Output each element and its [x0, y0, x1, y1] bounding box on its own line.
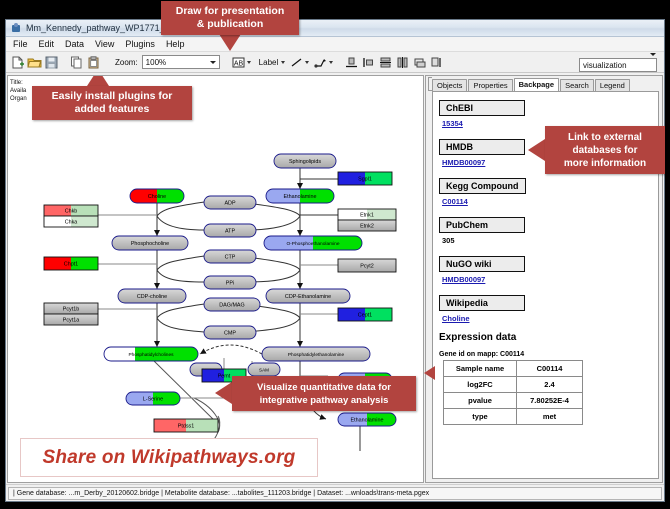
callout-draw-line2: & publication	[197, 18, 264, 30]
text-box-icon[interactable]: AB	[231, 55, 246, 70]
line-tool[interactable]	[289, 55, 309, 70]
gene-node-sgpl1[interactable]: Sgpl1	[338, 172, 392, 185]
node-label: Choline	[148, 194, 166, 200]
node-label: CMP	[224, 331, 236, 337]
menu-data[interactable]: Data	[64, 39, 85, 49]
table-row: type met	[444, 409, 583, 425]
label-tool[interactable]: Label	[255, 58, 286, 67]
callout-share-text: Share on Wikipathways.org	[43, 447, 296, 469]
zoom-select[interactable]: 100%	[142, 55, 220, 69]
exp-key-pvalue: pvalue	[444, 393, 517, 409]
node-label: Ethanolamine	[284, 194, 317, 200]
gene-node-pcyt2[interactable]: Pcyt2	[338, 259, 396, 272]
paste-icon[interactable]	[86, 55, 101, 70]
exp-key-log2fc: log2FC	[444, 377, 517, 393]
distribute-vertical-icon[interactable]	[378, 55, 393, 70]
metabolite-node-cdp-ethanolamine[interactable]: CDP-Ethanolamine	[266, 289, 350, 303]
node-label: ADP	[224, 201, 235, 207]
metabolite-node-choline-top[interactable]: Choline	[130, 189, 184, 203]
gene-node-chpt1[interactable]: Chpt1	[44, 257, 98, 270]
callout-visualize-arrow	[215, 382, 232, 404]
node-label: Chka	[65, 220, 78, 226]
backpage-link-wikipedia[interactable]: Choline	[442, 314, 658, 323]
metabolite-node-ethanolamine-right[interactable]: Ethanolamine	[338, 413, 396, 426]
node-label: Pcyt2	[360, 264, 373, 270]
node-label: Sgpl1	[358, 177, 372, 183]
table-row: log2FC 2.4	[444, 377, 583, 393]
metabolite-node-atp[interactable]: ATP	[204, 224, 256, 237]
backpage-heading-nugo: NuGO wiki	[439, 256, 525, 272]
gene-node-chka[interactable]: Chka	[44, 216, 98, 227]
node-label: CDP-choline	[137, 294, 167, 300]
metabolite-node-adp[interactable]: ADP	[204, 196, 256, 209]
menu-view[interactable]: View	[94, 39, 115, 49]
screenshot-root: Mm_Kennedy_pathway_WP1771_45176.gpml Fil…	[0, 0, 670, 509]
chevron-down-icon	[650, 56, 656, 74]
exp-val-pvalue: 7.80252E-4	[517, 393, 583, 409]
bring-front-icon[interactable]	[429, 55, 444, 70]
backpage-link-kegg[interactable]: C00114	[442, 197, 658, 206]
metabolite-node-o-phosphoethanolamine[interactable]: O-Phosphoethanolamine	[264, 236, 362, 250]
statusbar: | Gene database: ...m_Derby_20120602.bri…	[6, 484, 664, 501]
side-panel-tabs: Objects Properties Backpage Search Legen…	[426, 76, 662, 91]
tab-legend[interactable]: Legend	[595, 79, 630, 91]
gene-node-pcyt1b[interactable]: Pcyt1b	[44, 303, 98, 314]
node-label: CDP-Ethanolamine	[285, 294, 331, 300]
table-row: Sample name C00114	[444, 361, 583, 377]
pathway-canvas[interactable]: Title: Availa Organ	[7, 75, 424, 483]
metabolite-node-l-serine-left[interactable]: L-Serine	[126, 392, 180, 405]
node-label: Pcyt1a	[63, 318, 79, 324]
interaction-tool[interactable]	[313, 55, 333, 70]
metabolite-node-sphingolipids[interactable]: Sphingolipids	[274, 154, 336, 168]
node-label: Sphingolipids	[289, 159, 321, 165]
copy-icon[interactable]	[69, 55, 84, 70]
pathway-diagram[interactable]: SphingolipidsCholineEthanolaminePhosphoc…	[8, 76, 424, 483]
node-label: O-Phosphoethanolamine	[286, 241, 339, 247]
node-label: DAG/MAG	[219, 303, 244, 309]
metabolite-node-dagmag[interactable]: DAG/MAG	[204, 298, 260, 311]
gene-node-ptdss1[interactable]: Ptdss1	[154, 419, 218, 432]
node-label: SAM	[259, 368, 269, 373]
interaction-icon[interactable]	[313, 55, 328, 70]
node-label: CTP	[225, 255, 236, 261]
expression-data-title: Expression data	[439, 332, 658, 343]
node-label: Etnk1	[360, 213, 374, 219]
callout-visualize: Visualize quantitative data for integrat…	[232, 376, 416, 411]
align-left-icon[interactable]	[361, 55, 376, 70]
toolbar: Zoom: 100% AB Label	[6, 52, 664, 73]
callout-draw: Draw for presentation & publication	[161, 1, 299, 35]
statusbar-panel: | Gene database: ...m_Derby_20120602.bri…	[8, 487, 662, 500]
svg-text:AB: AB	[234, 60, 244, 67]
callout-visualize-line2: integrative pathway analysis	[260, 395, 389, 406]
chevron-down-icon	[207, 56, 219, 68]
exp-val-log2fc: 2.4	[517, 377, 583, 393]
callout-links-line3: more information	[564, 158, 646, 169]
pathvisio-app-icon	[11, 23, 22, 34]
text-box-tool[interactable]: AB	[231, 55, 251, 70]
node-label: Cept1	[358, 313, 372, 319]
table-row: pvalue 7.80252E-4	[444, 393, 583, 409]
pathvisio-window: Mm_Kennedy_pathway_WP1771_45176.gpml Fil…	[5, 19, 665, 502]
callout-links-arrow	[528, 139, 545, 161]
statusbar-text: | Gene database: ...m_Derby_20120602.bri…	[13, 490, 429, 497]
chevron-down-icon[interactable]	[247, 61, 251, 64]
metabolite-node-ethanolamine-top[interactable]: Ethanolamine	[266, 189, 334, 203]
metabolite-node-phosphatidylcholines[interactable]: Phosphatidylcholines	[104, 347, 198, 361]
callout-plugins-line2: added features	[75, 103, 150, 115]
callout-expression-arrow	[424, 366, 435, 380]
visualization-value: visualization	[580, 61, 650, 70]
save-icon[interactable]	[44, 55, 59, 70]
menubar: File Edit Data View Plugins Help	[6, 37, 664, 52]
toolbar-separator-4	[336, 55, 342, 70]
line-icon[interactable]	[289, 55, 304, 70]
node-label: L-Serine	[143, 397, 163, 403]
exp-key-type: type	[444, 409, 517, 425]
menu-file[interactable]: File	[12, 39, 29, 49]
callout-links-line2: databases for	[572, 145, 637, 156]
node-label: Phosphatidylethanolamine	[288, 352, 345, 358]
backpage-heading-kegg: Kegg Compound	[439, 178, 526, 194]
open-folder-icon[interactable]	[27, 55, 42, 70]
toolbar-separator-2	[103, 55, 109, 70]
backpage-heading-wikipedia: Wikipedia	[439, 295, 525, 311]
backpage-heading-chebi: ChEBI	[439, 100, 525, 116]
tab-properties[interactable]: Properties	[468, 79, 512, 91]
node-label: ATP	[225, 229, 235, 235]
metabolite-node-sam[interactable]: SAM	[248, 363, 280, 376]
callout-draw-arrow	[219, 34, 241, 51]
metabolite-node-ctp[interactable]: CTP	[204, 250, 256, 263]
callout-links-line1: Link to external	[568, 132, 642, 143]
callout-links: Link to external databases for more info…	[545, 126, 665, 174]
backpage-heading-pubchem: PubChem	[439, 217, 525, 233]
node-label: Ptdss1	[178, 424, 194, 430]
tab-search[interactable]: Search	[560, 79, 594, 91]
backpage-heading-hmdb: HMDB	[439, 139, 525, 155]
node-label: Pcyt1b	[63, 307, 79, 313]
exp-val-sample-name: C00114	[517, 361, 583, 377]
menu-edit[interactable]: Edit	[38, 39, 56, 49]
zoom-value: 100%	[143, 58, 207, 67]
gene-node-etnk2[interactable]: Etnk2	[338, 220, 396, 231]
node-label: Etnk2	[360, 224, 374, 230]
callout-plugins-arrow	[87, 75, 109, 86]
exp-key-sample-name: Sample name	[444, 361, 517, 377]
label-dropdown-label: Label	[259, 58, 279, 67]
node-label: Ethanolamine	[351, 418, 384, 424]
new-file-icon[interactable]	[10, 55, 25, 70]
window-titlebar: Mm_Kennedy_pathway_WP1771_45176.gpml	[6, 20, 664, 37]
chevron-down-icon[interactable]	[329, 61, 333, 64]
align-bottom-icon[interactable]	[344, 55, 359, 70]
metabolite-node-cmp[interactable]: CMP	[204, 326, 256, 339]
menu-help[interactable]: Help	[165, 39, 186, 49]
backpage-value-pubchem: 305	[442, 236, 658, 245]
node-label: Chpt1	[64, 262, 78, 268]
metabolite-node-ppi[interactable]: PPi	[204, 276, 256, 289]
distribute-horizontal-icon[interactable]	[395, 55, 410, 70]
stack-icon[interactable]	[412, 55, 427, 70]
zoom-label: Zoom:	[115, 58, 138, 67]
node-label: PPi	[226, 281, 234, 287]
node-label: Phosphatidylcholines	[128, 352, 174, 358]
gene-id-on-mapp: Gene id on mapp: C00114	[439, 351, 658, 358]
chevron-down-icon[interactable]	[281, 61, 285, 64]
metabolite-node-cdp-choline[interactable]: CDP-choline	[118, 289, 186, 303]
toolbar-separator-1	[61, 55, 67, 70]
metabolite-node-phosphocholine[interactable]: Phosphocholine	[112, 236, 188, 250]
chevron-down-icon[interactable]	[305, 61, 309, 64]
backpage-link-nugo[interactable]: HMDB00097	[442, 275, 658, 284]
metabolite-node-phosphatidylethanolamine[interactable]: Phosphatidylethanolamine	[262, 347, 370, 361]
callout-draw-line1: Draw for presentation	[176, 5, 285, 17]
callout-plugins: Easily install plugins for added feature…	[32, 86, 192, 120]
callout-plugins-line1: Easily install plugins for	[52, 90, 173, 102]
node-label: Phosphocholine	[131, 241, 169, 247]
node-label: Pemt	[218, 374, 231, 380]
callout-share-box: Share on Wikipathways.org	[20, 438, 318, 477]
expression-data-table: Sample name C00114 log2FC 2.4 pvalue 7.8…	[443, 360, 583, 425]
node-label: Chkb	[65, 209, 78, 215]
visualization-select[interactable]: visualization	[579, 58, 657, 72]
tab-objects[interactable]: Objects	[432, 79, 467, 91]
gene-node-chkb[interactable]: Chkb	[44, 205, 98, 216]
menu-plugins[interactable]: Plugins	[124, 39, 156, 49]
exp-val-type: met	[517, 409, 583, 425]
gene-node-etnk1[interactable]: Etnk1	[338, 209, 396, 220]
toolbar-separator-3	[222, 55, 228, 70]
gene-node-pcyt1a[interactable]: Pcyt1a	[44, 314, 98, 325]
gene-node-cept1[interactable]: Cept1	[338, 308, 392, 321]
callout-visualize-line1: Visualize quantitative data for	[257, 382, 391, 393]
tab-backpage[interactable]: Backpage	[514, 78, 559, 91]
